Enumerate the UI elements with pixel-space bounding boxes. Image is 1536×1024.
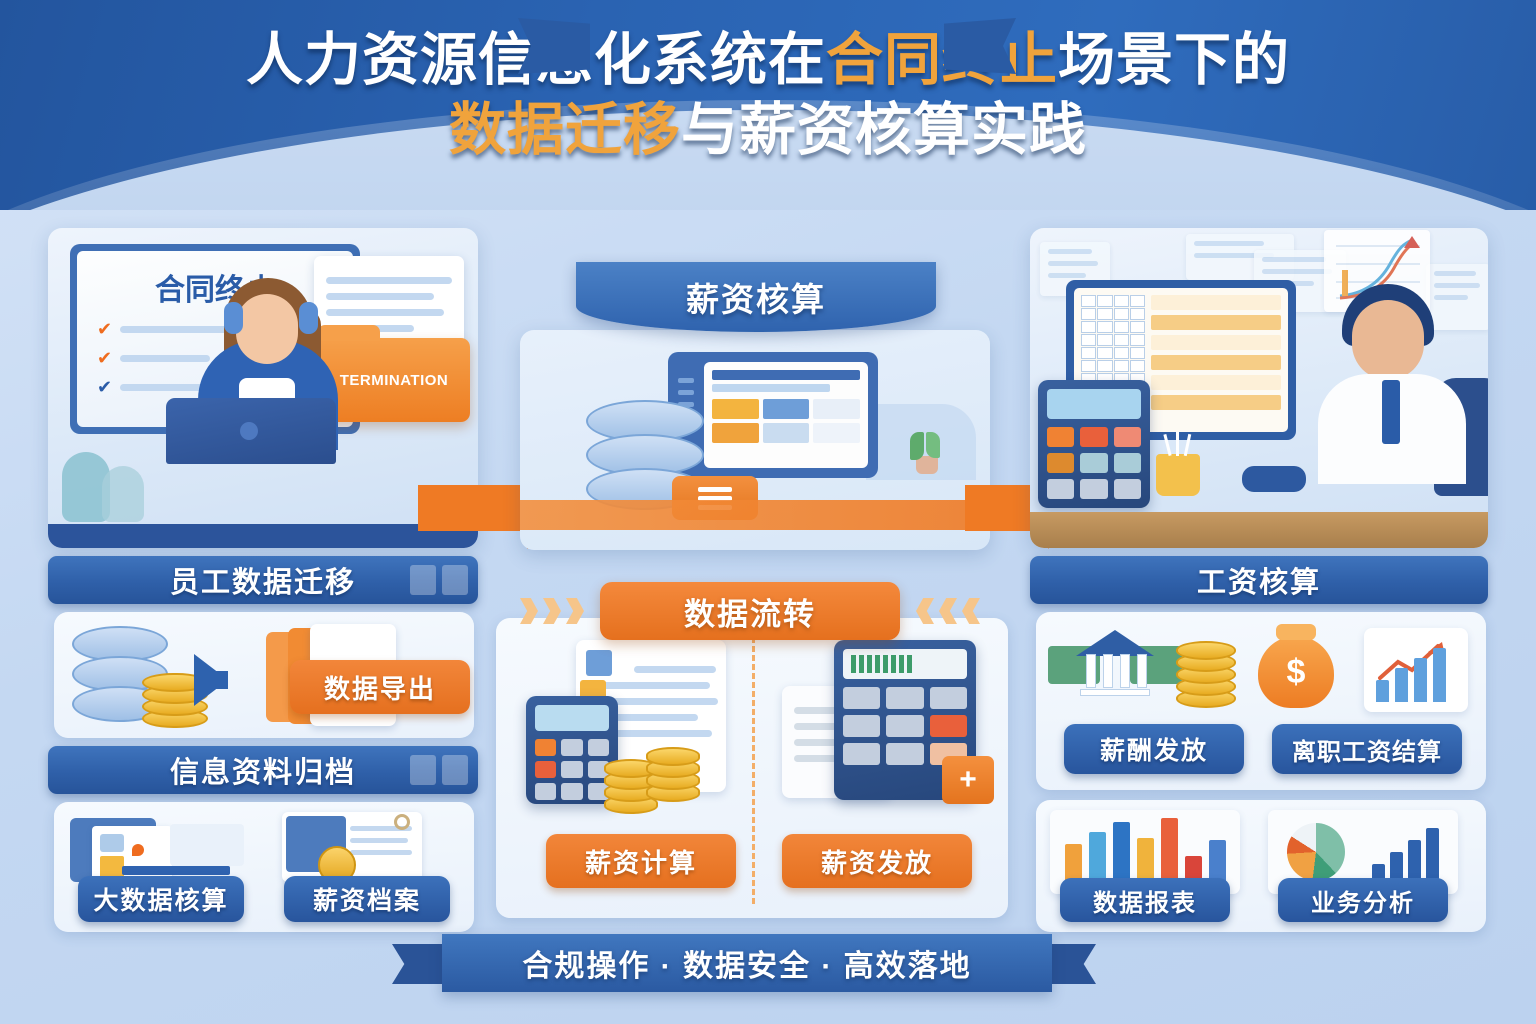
left-card-1[interactable]: 大数据核算 bbox=[78, 876, 244, 922]
chevrons-left bbox=[520, 598, 584, 624]
title-part-tail: 薪资核算实践 bbox=[739, 98, 1087, 162]
footer-banner-text: 合规操作 · 数据安全 · 高效落地 bbox=[522, 941, 971, 985]
title-highlight-termination: 合同终止 bbox=[826, 28, 1058, 92]
left-section-title-2: 信息资料归档 bbox=[48, 746, 478, 794]
infographic-canvas: 人力资源信息化系统在合同终止场景下的 数据迁移与薪资核算实践 合同终止 ✔ ✔ … bbox=[0, 0, 1536, 1024]
right-chip-2[interactable]: 离职工资结算 bbox=[1272, 724, 1462, 774]
text-line bbox=[326, 293, 434, 300]
text-line bbox=[120, 326, 240, 333]
center-panel-2-art: + bbox=[782, 640, 992, 820]
flow-band bbox=[520, 500, 990, 530]
headphones-icon bbox=[224, 302, 318, 332]
pie-graphic bbox=[1287, 823, 1345, 881]
pen-holder-icon bbox=[1156, 454, 1200, 496]
divider-dashed bbox=[752, 628, 755, 904]
necktie bbox=[1382, 380, 1400, 444]
calculator-icon bbox=[1038, 380, 1150, 508]
payroll-rows bbox=[1151, 295, 1281, 425]
chevrons-right bbox=[916, 598, 980, 624]
footer-banner: 合规操作 · 数据安全 · 高效落地 bbox=[442, 934, 1052, 992]
center-panel-1-label-text: 薪资计算 bbox=[585, 843, 697, 880]
left-illustration-scene: 合同终止 ✔ ✔ ✔ TERMINATI bbox=[48, 228, 478, 548]
bar-decoration bbox=[410, 755, 468, 785]
left-cards-container: 大数据核算 薪资档案 bbox=[54, 802, 474, 932]
right-cards-container: 数据报表 业务分析 bbox=[1036, 800, 1486, 932]
title-part-post: 场景下的 bbox=[1058, 28, 1290, 92]
title-line-1: 人力资源信息化系统在合同终止场景下的 bbox=[0, 26, 1536, 96]
plus-badge-icon: + bbox=[942, 756, 994, 804]
bg-document bbox=[1426, 264, 1488, 330]
growth-chart-icon bbox=[1364, 628, 1468, 712]
right-section-title-text: 工资核算 bbox=[1197, 559, 1321, 601]
center-panels-card: 薪资计算 bbox=[496, 618, 1008, 918]
right-illustration-scene bbox=[1030, 228, 1488, 548]
left-orange-chip-text: 数据导出 bbox=[324, 669, 436, 706]
right-section-title: 工资核算 bbox=[1030, 556, 1488, 604]
center-orange-banner: 数据流转 bbox=[600, 582, 900, 640]
center-panel-2-label[interactable]: 薪资发放 bbox=[782, 834, 972, 888]
text-line bbox=[120, 355, 210, 362]
coin-stack-2 bbox=[646, 748, 700, 802]
left-orange-chip[interactable]: 数据导出 bbox=[290, 660, 470, 714]
right-chip-1-label: 薪酬发放 bbox=[1100, 731, 1208, 767]
right-card-2-label: 业务分析 bbox=[1311, 883, 1415, 918]
center-panel-1-art bbox=[526, 640, 746, 820]
left-section-title-1: 员工数据迁移 bbox=[48, 556, 478, 604]
check-icon: ✔ bbox=[97, 319, 112, 340]
center-ribbon-banner: 薪资核算 bbox=[576, 262, 936, 332]
center-orange-banner-label: 数据流转 bbox=[684, 589, 816, 634]
person-face bbox=[1352, 300, 1424, 380]
title-line-2: 数据迁移与薪资核算实践 bbox=[0, 96, 1536, 166]
right-card-2[interactable]: 业务分析 bbox=[1278, 878, 1448, 922]
tree-small-icon bbox=[102, 466, 144, 522]
pie-side-bars bbox=[1372, 824, 1439, 880]
plant-icon bbox=[908, 428, 944, 474]
center-panel-2-label-text: 薪资发放 bbox=[821, 843, 933, 880]
page-title: 人力资源信息化系统在合同终止场景下的 数据迁移与薪资核算实践 bbox=[0, 26, 1536, 165]
left-section-title-1-text: 员工数据迁移 bbox=[170, 559, 356, 601]
left-section-title-2-text: 信息资料归档 bbox=[170, 749, 356, 791]
title-highlight-migration: 数据迁移 bbox=[449, 98, 681, 162]
laptop-icon bbox=[166, 398, 336, 464]
desk-surface bbox=[1030, 512, 1488, 548]
left-card-2-label: 薪资档案 bbox=[313, 881, 421, 917]
mini-bars bbox=[1376, 648, 1446, 702]
termination-folder-icon: TERMINATION bbox=[318, 338, 470, 422]
flow-arrow-left bbox=[418, 485, 528, 531]
check-icon: ✔ bbox=[97, 348, 112, 369]
right-money-card: $ 薪酬发放 离职工资结算 bbox=[1036, 612, 1486, 790]
text-line bbox=[326, 309, 444, 316]
left-card-1-label: 大数据核算 bbox=[93, 881, 228, 917]
right-card-1[interactable]: 数据报表 bbox=[1060, 878, 1230, 922]
text-line bbox=[326, 277, 452, 284]
left-migration-card: 数据导出 bbox=[54, 612, 474, 738]
right-chip-1[interactable]: 薪酬发放 bbox=[1064, 724, 1244, 774]
center-illustration-scene bbox=[520, 330, 990, 550]
desk-surface bbox=[48, 524, 478, 548]
folder-label: TERMINATION bbox=[340, 372, 449, 389]
transfer-arrow-icon bbox=[194, 654, 228, 706]
center-panel-1-label[interactable]: 薪资计算 bbox=[546, 834, 736, 888]
mouse-icon bbox=[1242, 466, 1306, 492]
check-icon: ✔ bbox=[97, 377, 112, 398]
title-part-mid: 与 bbox=[681, 98, 739, 162]
center-ribbon-label: 薪资核算 bbox=[686, 273, 826, 321]
footer-ribbon-tail-left bbox=[392, 944, 448, 984]
money-bag-icon: $ bbox=[1258, 636, 1334, 708]
left-card-2[interactable]: 薪资档案 bbox=[284, 876, 450, 922]
right-chip-2-label: 离职工资结算 bbox=[1292, 732, 1442, 767]
bar-decoration bbox=[410, 565, 468, 595]
right-card-1-label: 数据报表 bbox=[1093, 883, 1197, 918]
